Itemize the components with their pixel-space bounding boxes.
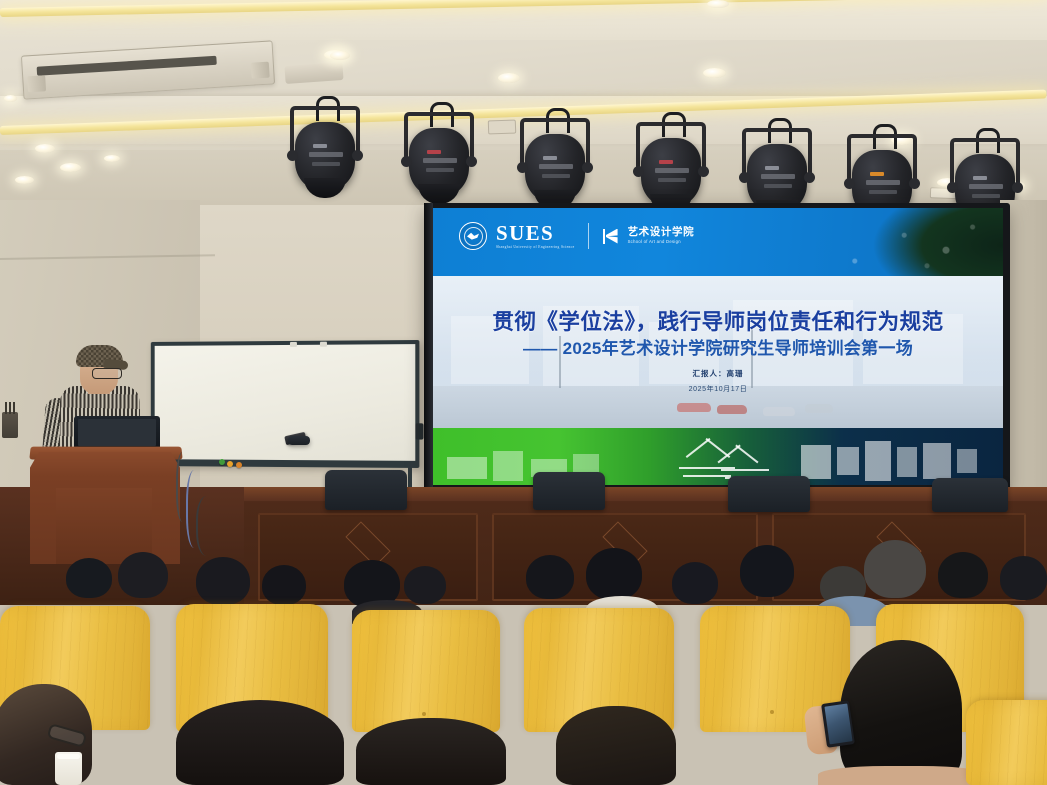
- led-video-wall[interactable]: SUES Shanghai University of Engineering …: [424, 203, 1010, 491]
- stage-light: [518, 118, 592, 214]
- city-lineart: [923, 443, 951, 479]
- logo-divider: [588, 223, 589, 249]
- whiteboard-clip: [320, 342, 327, 347]
- panel-chair[interactable]: [325, 470, 407, 510]
- magnet[interactable]: [227, 461, 233, 467]
- light-lens: [418, 184, 460, 204]
- college-name-cn: 艺术设计学院: [628, 227, 695, 238]
- light-knob: [1012, 182, 1023, 193]
- audience-head: [740, 545, 794, 597]
- panel-chair[interactable]: [533, 472, 605, 510]
- panel-chair[interactable]: [932, 478, 1008, 512]
- school-of-art-mark-icon: [602, 228, 619, 245]
- ceiling-speaker-grille: [488, 120, 516, 135]
- light-indicator: [543, 156, 557, 160]
- light-knob: [352, 150, 363, 161]
- light-label: [312, 162, 340, 166]
- light-knob: [287, 150, 298, 161]
- city-lineart: [865, 441, 891, 481]
- light-lens: [304, 178, 346, 198]
- presentation-slide[interactable]: SUES Shanghai University of Engineering …: [433, 208, 1003, 485]
- audience-head: [262, 565, 306, 605]
- seal-emblem-icon: [467, 232, 479, 240]
- city-lineart: [957, 449, 977, 473]
- whiteboard[interactable]: [151, 340, 420, 468]
- downlight-icon: [4, 95, 17, 102]
- university-seal-icon: [459, 222, 487, 250]
- foreground-person-head: [176, 700, 344, 785]
- light-indicator: [427, 150, 441, 154]
- slide-body: 贯彻《学位法》，践行导师岗位责任和行为规范 —— 2025年艺术设计学院研究生导…: [433, 276, 1003, 428]
- light-label: [655, 168, 689, 173]
- light-knob: [947, 182, 958, 193]
- light-label: [539, 164, 573, 169]
- light-indicator: [659, 160, 673, 164]
- seat-wood-grain: [966, 700, 1047, 785]
- light-indicator: [870, 172, 884, 176]
- seat-screw: [422, 712, 426, 716]
- city-lineart: [837, 447, 859, 475]
- city-lineart: [801, 445, 831, 479]
- slide-presenter: 汇报人：高珊: [433, 368, 1003, 379]
- downlight-icon: [104, 155, 120, 162]
- audience-head: [1000, 556, 1047, 600]
- stage-light: [402, 112, 476, 208]
- light-indicator: [973, 176, 987, 180]
- audience-head: [938, 552, 988, 598]
- college-wordmark: 艺术设计学院 School of Art and Design: [628, 227, 695, 244]
- slide-header-band: SUES Shanghai University of Engineering …: [433, 208, 1003, 276]
- ac-vent-left: [27, 75, 46, 92]
- audience-head: [526, 555, 574, 599]
- audience-head: [118, 552, 168, 598]
- light-knob: [582, 162, 593, 173]
- audience-head: [672, 562, 718, 604]
- slide-footer-band: [433, 428, 1003, 485]
- light-label: [761, 174, 795, 179]
- audience-head: [586, 548, 642, 600]
- ceiling-vent-small: [284, 62, 343, 84]
- light-knob: [804, 172, 815, 183]
- seat-wood-grain: [352, 610, 500, 732]
- audience-head: [404, 566, 446, 604]
- background-car: [677, 403, 711, 412]
- light-label: [542, 174, 570, 178]
- light-label: [426, 168, 454, 172]
- auditorium-seat[interactable]: [352, 610, 500, 732]
- light-knob: [909, 178, 920, 189]
- panel-chair[interactable]: [728, 476, 810, 512]
- audience-head: [66, 558, 112, 598]
- cable: [196, 496, 222, 556]
- foliage-silhouette: [813, 208, 1003, 276]
- light-label: [423, 158, 457, 163]
- university-wordmark: SUES Shanghai University of Engineering …: [496, 223, 575, 250]
- light-label: [309, 152, 343, 157]
- light-knob: [633, 166, 644, 177]
- light-label: [866, 180, 900, 185]
- screen-bezel: [424, 203, 433, 491]
- downlight-icon: [35, 144, 55, 153]
- light-label: [969, 184, 1003, 189]
- paper-cup[interactable]: [55, 752, 82, 785]
- audience-head: [196, 557, 250, 605]
- background-car: [717, 405, 747, 414]
- auditorium-seat[interactable]: [966, 700, 1047, 785]
- institution-logo: SUES Shanghai University of Engineering …: [459, 222, 694, 250]
- slide-subtitle: —— 2025年艺术设计学院研究生导师培训会第一场: [433, 334, 1003, 359]
- lecture-hall-photo: SUES Shanghai University of Engineering …: [0, 0, 1047, 785]
- light-knob: [401, 156, 412, 167]
- smartphone-recording[interactable]: [821, 700, 855, 747]
- lectern-laptop[interactable]: [74, 416, 160, 450]
- light-label: [972, 194, 1000, 198]
- ac-grille: [37, 56, 217, 76]
- university-abbr: SUES: [496, 223, 575, 244]
- magnet[interactable]: [236, 462, 242, 468]
- college-name-en: School of Art and Design: [628, 240, 695, 244]
- foreground-person-neck: [818, 766, 988, 785]
- whiteboard-clip: [290, 342, 297, 347]
- background-car: [805, 404, 833, 413]
- light-knob: [517, 162, 528, 173]
- downlight-icon: [707, 0, 729, 8]
- downlight-icon: [703, 68, 726, 78]
- downlight-icon: [60, 163, 81, 172]
- light-label: [658, 178, 686, 182]
- light-knob: [466, 156, 477, 167]
- whiteboard-hinge: [415, 423, 423, 439]
- light-indicator: [765, 166, 779, 170]
- downlight-icon: [498, 73, 520, 83]
- eyeglasses-icon: [92, 368, 122, 379]
- pen-holder: [2, 412, 18, 438]
- downlight-icon: [15, 176, 34, 184]
- light-knob: [698, 166, 709, 177]
- ac-vent-right: [251, 62, 270, 79]
- campus-lineart: [447, 457, 487, 479]
- stage-light: [288, 106, 362, 202]
- light-knob: [844, 178, 855, 189]
- light-knob: [739, 172, 750, 183]
- light-label: [764, 184, 792, 188]
- seat-screw: [770, 710, 774, 714]
- downlight-icon: [330, 51, 350, 60]
- audience-head: [864, 540, 926, 598]
- background-car: [763, 407, 795, 416]
- slide-date: 2025年10月17日: [433, 384, 1003, 394]
- foreground-person-head: [556, 706, 676, 785]
- university-full-name: Shanghai University of Engineering Scien…: [496, 246, 575, 250]
- light-indicator: [313, 144, 327, 148]
- campus-lineart: [493, 451, 523, 481]
- whiteboard-marker[interactable]: [288, 436, 310, 445]
- magnet[interactable]: [219, 459, 225, 465]
- lectern: [30, 452, 180, 564]
- foreground-person-head: [840, 640, 962, 785]
- city-lineart: [897, 447, 917, 477]
- ceiling-ac-cassette: [21, 40, 275, 99]
- light-label: [869, 190, 897, 194]
- slide-title: 贯彻《学位法》，践行导师岗位责任和行为规范: [433, 305, 1003, 336]
- foreground-person-head: [356, 718, 506, 785]
